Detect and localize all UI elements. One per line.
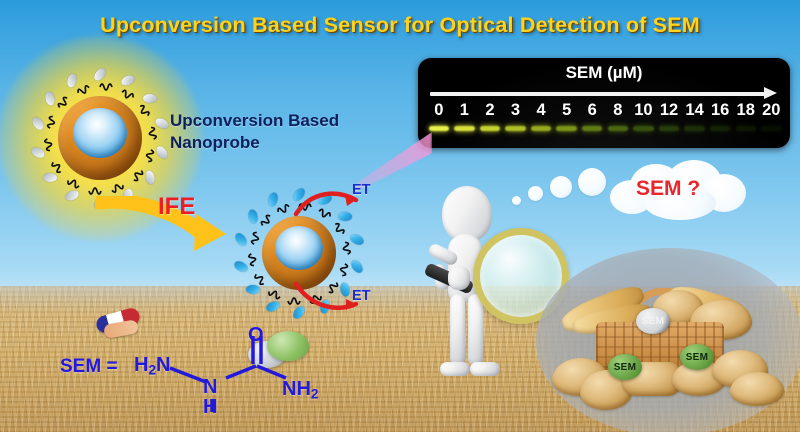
- luminescence-band: [710, 126, 730, 131]
- luminescence-band-cell: [605, 122, 631, 134]
- luminescence-band: [505, 126, 525, 131]
- polymer-chain: [334, 261, 351, 279]
- luminescence-band-cell: [733, 122, 759, 134]
- concentration-tick-labels: 01234568101214161820: [426, 99, 784, 121]
- luminescence-band: [429, 126, 449, 131]
- concentration-tick: 20: [759, 99, 785, 121]
- luminescence-band: [480, 126, 500, 131]
- sem-tag-bread-left: SEM: [608, 354, 642, 380]
- concentration-tick: 10: [631, 99, 657, 121]
- luminescence-band: [608, 126, 628, 131]
- figure-foot-left: [440, 362, 470, 376]
- luminescence-band-cell: [554, 122, 580, 134]
- figure-foot-right: [470, 362, 500, 376]
- polymer-chain: [337, 240, 354, 258]
- luminescence-band-cell: [477, 122, 503, 134]
- figure-title: Upconversion Based Sensor for Optical De…: [0, 13, 800, 38]
- concentration-tick: 4: [528, 99, 554, 121]
- luminescence-band: [659, 126, 679, 131]
- luminescence-band-row: [426, 122, 784, 134]
- luminescence-band: [531, 126, 551, 131]
- luminescence-band: [633, 126, 653, 131]
- polymer-chain: [99, 81, 114, 95]
- concentration-tick: 16: [707, 99, 733, 121]
- sem-question-label: SEM ?: [636, 177, 700, 201]
- luminescence-band-cell: [759, 122, 785, 134]
- thought-bubble-medium: [578, 168, 606, 196]
- nanoprobe-label-line1: Upconversion Based: [170, 110, 385, 132]
- concentration-tick: 8: [605, 99, 631, 121]
- concentration-tick: 14: [682, 99, 708, 121]
- nanoprobe-label-line2: Nanoprobe: [170, 132, 385, 154]
- nanoparticle-core: [73, 108, 127, 158]
- polymer-chain: [143, 125, 160, 143]
- luminescence-band: [582, 126, 602, 131]
- concentration-tick: 18: [733, 99, 759, 121]
- ife-label: IFE: [158, 193, 195, 221]
- luminescence-band-cell: [426, 122, 452, 134]
- luminescence-band: [761, 126, 781, 131]
- concentration-tick: 0: [426, 99, 452, 121]
- luminescence-band: [454, 126, 474, 131]
- panel-axis-title: SEM (µM): [418, 63, 790, 83]
- luminescence-band-cell: [707, 122, 733, 134]
- right-arrow-icon: [764, 87, 777, 99]
- luminescence-band-cell: [503, 122, 529, 134]
- sem-tag-bread-right: SEM: [680, 344, 714, 370]
- luminescence-band-cell: [452, 122, 478, 134]
- luminescence-band-cell: [656, 122, 682, 134]
- luminescence-band: [684, 126, 704, 131]
- et-label-top: ET: [352, 182, 371, 198]
- figure-hand: [448, 266, 470, 290]
- concentration-tick: 5: [554, 99, 580, 121]
- concentration-tick: 3: [503, 99, 529, 121]
- luminescence-band: [736, 126, 756, 131]
- luminescence-band-cell: [528, 122, 554, 134]
- graphical-abstract: Upconversion Based Sensor for Optical De…: [0, 0, 800, 432]
- nanoprobe-label: Upconversion Based Nanoprobe: [170, 110, 385, 155]
- thought-bubble-small: [550, 176, 572, 198]
- concentration-tick: 6: [579, 99, 605, 121]
- luminescence-band-cell: [631, 122, 657, 134]
- concentration-tick: 1: [452, 99, 478, 121]
- sem-structure: SEM = H2N N H O NH2: [60, 336, 390, 416]
- polymer-chain: [87, 183, 102, 197]
- axis-line: [430, 92, 768, 96]
- luminescence-band: [556, 126, 576, 131]
- concentration-axis: [430, 89, 780, 98]
- sem-concentration-panel: SEM (µM) 01234568101214161820: [418, 58, 790, 148]
- sem-tag-basket: SEM: [636, 308, 670, 334]
- et-label-bottom: ET: [352, 288, 371, 304]
- concentration-tick: 12: [656, 99, 682, 121]
- luminescence-band-cell: [682, 122, 708, 134]
- figure-leg-right: [468, 294, 483, 366]
- concentration-tick: 2: [477, 99, 503, 121]
- upconversion-nanoprobe-bright: [40, 78, 160, 198]
- figure-leg-left: [450, 294, 465, 366]
- ligand-ellipse: [143, 93, 157, 102]
- structure-bonds: [60, 316, 390, 416]
- nanoparticle-core: [275, 226, 323, 270]
- luminescence-band-cell: [579, 122, 605, 134]
- bread-roll: [730, 372, 784, 406]
